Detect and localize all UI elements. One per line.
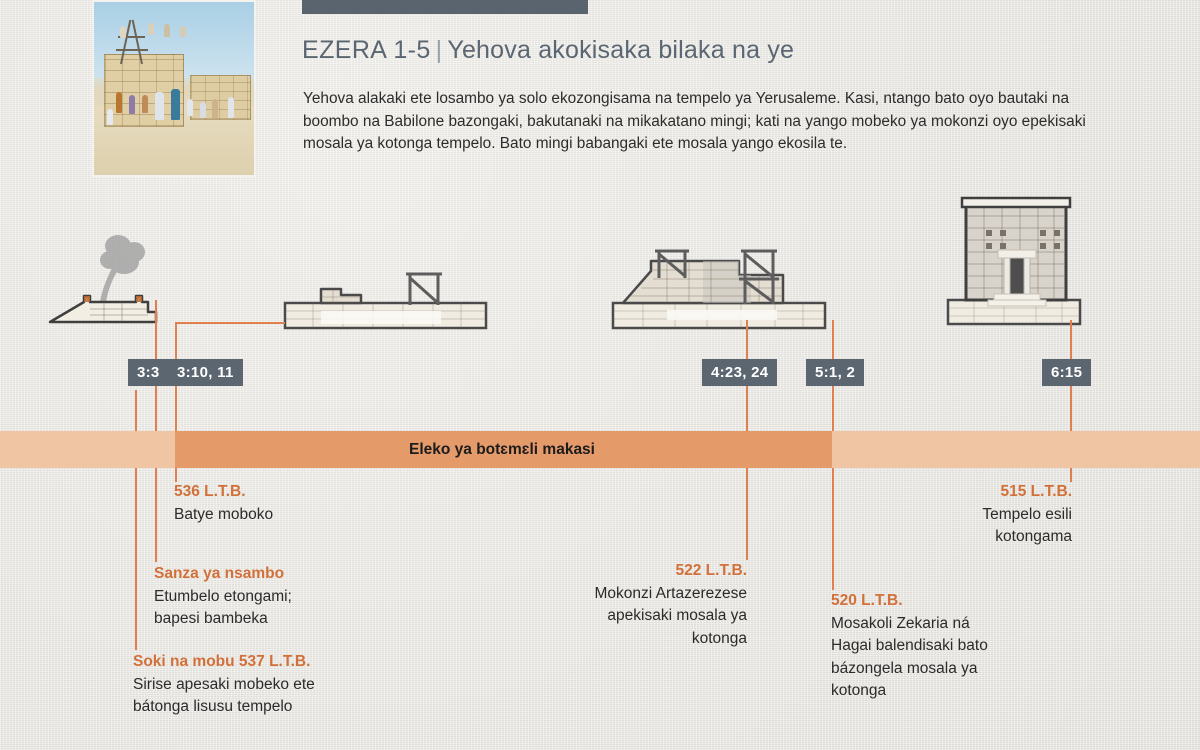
- note-536-text: Batye moboko: [174, 506, 273, 523]
- stage-altar-with-smoke: [44, 230, 169, 330]
- note-sanza-year: Sanza ya nsambo: [154, 563, 394, 586]
- note-520-line2: Hagai balendisaki bato: [831, 637, 988, 654]
- artwork-figure: [148, 23, 154, 35]
- connector-line-537: [135, 390, 137, 650]
- artwork-figure: [142, 95, 148, 112]
- note-522: 522 L.T.B. Mokonzi Artazerezese apekisak…: [525, 560, 747, 650]
- artwork-figure: [187, 99, 193, 116]
- temple-construction-artwork: [92, 0, 256, 177]
- note-536-year: 536 L.T.B.: [174, 481, 404, 504]
- artwork-figure: [171, 89, 180, 120]
- verse-badge-4-23-24[interactable]: 4:23, 24: [702, 359, 777, 386]
- note-sanza-ya-nsambo: Sanza ya nsambo Etumbelo etongami; bapes…: [154, 563, 394, 631]
- note-515-line2: kotongama: [995, 528, 1072, 545]
- note-522-line3: kotonga: [692, 630, 747, 647]
- era-band-label: Eleko ya botɛmɛli makasi: [0, 431, 1004, 468]
- verse-badge-6-15[interactable]: 6:15: [1042, 359, 1091, 386]
- artwork-figure: [129, 95, 135, 114]
- connector-line-3-10-horizontal: [175, 322, 285, 324]
- verse-badge-5-1-2[interactable]: 5:1, 2: [806, 359, 864, 386]
- note-520-line4: kotonga: [831, 682, 886, 699]
- note-522-line1: Mokonzi Artazerezese: [595, 585, 748, 602]
- note-537-year: Soki na mobu 537 L.T.B.: [133, 651, 423, 674]
- stage-completed-temple: [944, 190, 1084, 330]
- header-accent-bar: [302, 0, 588, 14]
- verse-badge-3-10-11[interactable]: 3:10, 11: [168, 359, 243, 386]
- page-title: EZERA 1-5|Yehova akokisaka bilaka na ye: [302, 36, 1102, 65]
- note-520-line1: Mosakoli Zekaria ná: [831, 615, 970, 632]
- foundation-icon: [283, 265, 488, 330]
- artwork-figure: [228, 97, 234, 118]
- note-515: 515 L.T.B. Tempelo esili kotongama: [890, 481, 1072, 549]
- note-522-line2: apekisaki mosala ya: [607, 607, 747, 624]
- note-sanza-line1: Etumbelo etongami;: [154, 588, 292, 605]
- note-536: 536 L.T.B. Batye moboko: [174, 481, 404, 526]
- artwork-figure: [107, 109, 113, 125]
- note-537-line1: Sirise apesaki mobeko ete: [133, 676, 315, 693]
- note-520: 520 L.T.B. Mosakoli Zekaria ná Hagai bal…: [831, 590, 1046, 703]
- note-515-year: 515 L.T.B.: [890, 481, 1072, 504]
- completed-temple-icon: [944, 190, 1084, 330]
- summary-paragraph: Yehova alakaki ete losambo ya solo ekozo…: [303, 88, 1093, 156]
- note-537: Soki na mobu 537 L.T.B. Sirise apesaki m…: [133, 651, 423, 719]
- artwork-figure: [120, 26, 126, 38]
- verse-badge-3-3[interactable]: 3:3: [128, 359, 169, 386]
- note-520-year: 520 L.T.B.: [831, 590, 1046, 613]
- note-sanza-line2: bapesi bambeka: [154, 610, 268, 627]
- stage-partial-walls: [611, 248, 827, 330]
- artwork-figure: [164, 24, 170, 36]
- scripture-reference: EZERA 1-5: [302, 36, 431, 64]
- artwork-figure: [116, 92, 122, 113]
- note-515-line1: Tempelo esili: [982, 506, 1072, 523]
- title-separator: |: [431, 36, 448, 64]
- note-520-line3: bázongela mosala ya: [831, 660, 978, 677]
- note-522-year: 522 L.T.B.: [525, 560, 747, 583]
- artwork-figure: [212, 99, 218, 118]
- partial-walls-icon: [611, 248, 827, 330]
- altar-smoke-icon: [44, 230, 169, 330]
- artwork-figure: [180, 26, 186, 36]
- title-text: Yehova akokisaka bilaka na ye: [447, 36, 794, 64]
- artwork-figure: [200, 102, 206, 118]
- stage-foundation: [283, 265, 488, 330]
- note-537-line2: bátonga lisusu tempelo: [133, 698, 292, 715]
- artwork-figure: [155, 92, 164, 120]
